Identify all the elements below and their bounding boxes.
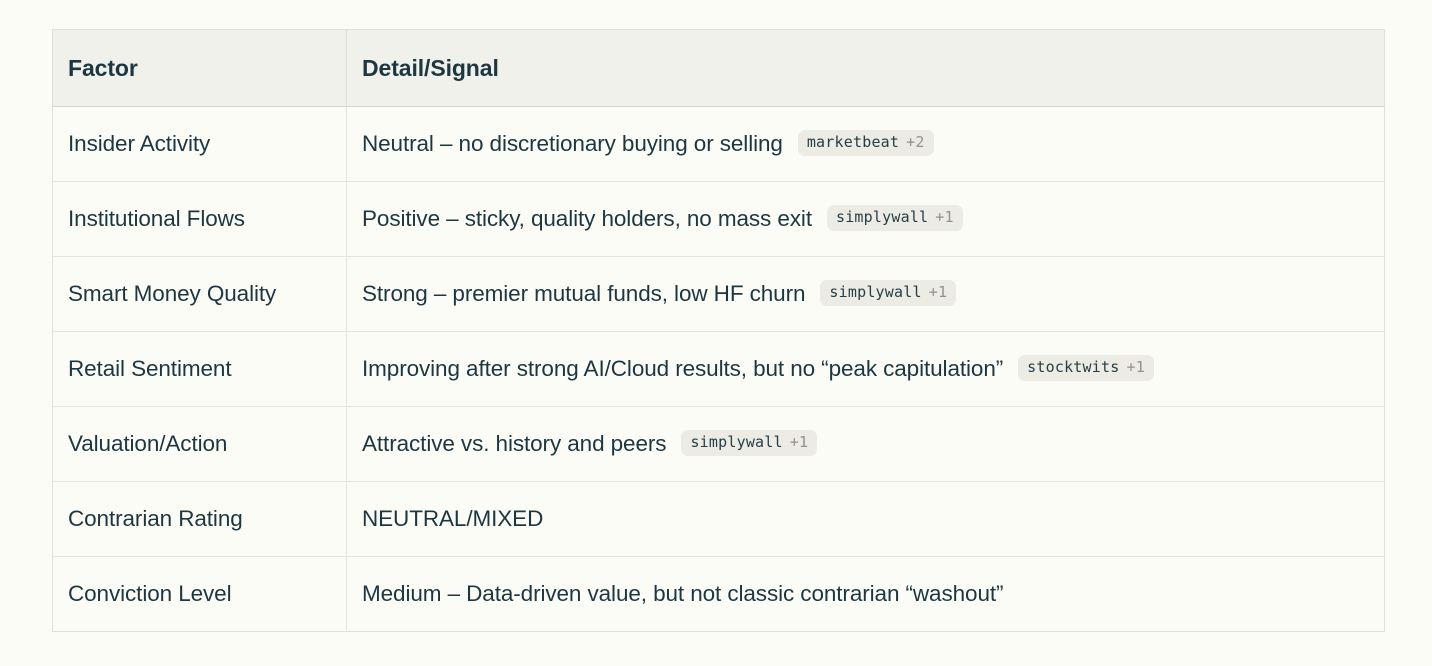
detail-text: Positive – sticky, quality holders, no m… [362,206,812,232]
detail-text: Medium – Data-driven value, but not clas… [362,581,1003,607]
citation-more-count: +1 [1126,359,1144,376]
citation-badge[interactable]: marketbeat +2 [798,130,934,156]
citation-source: simplywall [829,284,921,301]
factor-signal-table-container: Factor Detail/Signal Insider Activity Ne… [52,29,1384,632]
detail-cell-content: Improving after strong AI/Cloud results,… [362,332,1384,406]
detail-cell-content: Neutral – no discretionary buying or sel… [362,107,1384,181]
table-header: Factor Detail/Signal [53,30,1385,107]
citation-badge[interactable]: simplywall +1 [820,280,956,306]
citation-source: simplywall [836,209,928,226]
cell-detail: Attractive vs. history and peers simplyw… [347,407,1385,482]
table-body: Insider Activity Neutral – no discretion… [53,107,1385,632]
factor-signal-table: Factor Detail/Signal Insider Activity Ne… [52,29,1385,632]
citation-badge[interactable]: simplywall +1 [827,205,963,231]
page-root: Factor Detail/Signal Insider Activity Ne… [0,0,1432,666]
cell-detail: NEUTRAL/MIXED [347,482,1385,557]
citation-badge[interactable]: simplywall +1 [681,430,817,456]
detail-text: Improving after strong AI/Cloud results,… [362,356,1003,382]
citation-more-count: +1 [790,434,808,451]
cell-detail: Positive – sticky, quality holders, no m… [347,182,1385,257]
cell-detail: Strong – premier mutual funds, low HF ch… [347,257,1385,332]
detail-cell-content: Strong – premier mutual funds, low HF ch… [362,257,1384,331]
table-row: Contrarian Rating NEUTRAL/MIXED [53,482,1385,557]
citation-more-count: +1 [929,284,947,301]
detail-cell-content: Positive – sticky, quality holders, no m… [362,182,1384,256]
detail-cell-content: Medium – Data-driven value, but not clas… [362,557,1384,631]
detail-text: NEUTRAL/MIXED [362,506,543,532]
citation-more-count: +1 [935,209,953,226]
cell-factor: Smart Money Quality [53,257,347,332]
citation-source: stocktwits [1027,359,1119,376]
cell-factor: Contrarian Rating [53,482,347,557]
table-header-row: Factor Detail/Signal [53,30,1385,107]
table-row: Conviction Level Medium – Data-driven va… [53,557,1385,632]
detail-cell-content: Attractive vs. history and peers simplyw… [362,407,1384,481]
cell-detail: Improving after strong AI/Cloud results,… [347,332,1385,407]
citation-more-count: +2 [906,134,924,151]
detail-text: Attractive vs. history and peers [362,431,666,457]
cell-detail: Medium – Data-driven value, but not clas… [347,557,1385,632]
table-row: Valuation/Action Attractive vs. history … [53,407,1385,482]
table-row: Smart Money Quality Strong – premier mut… [53,257,1385,332]
citation-badge[interactable]: stocktwits +1 [1018,355,1154,381]
cell-detail: Neutral – no discretionary buying or sel… [347,107,1385,182]
detail-cell-content: NEUTRAL/MIXED [362,482,1384,556]
cell-factor: Institutional Flows [53,182,347,257]
detail-text: Neutral – no discretionary buying or sel… [362,131,783,157]
table-row: Retail Sentiment Improving after strong … [53,332,1385,407]
citation-source: marketbeat [807,134,899,151]
citation-source: simplywall [690,434,782,451]
column-header-factor: Factor [53,30,347,107]
table-row: Insider Activity Neutral – no discretion… [53,107,1385,182]
table-row: Institutional Flows Positive – sticky, q… [53,182,1385,257]
cell-factor: Valuation/Action [53,407,347,482]
cell-factor: Insider Activity [53,107,347,182]
cell-factor: Retail Sentiment [53,332,347,407]
cell-factor: Conviction Level [53,557,347,632]
detail-text: Strong – premier mutual funds, low HF ch… [362,281,805,307]
column-header-detail-signal: Detail/Signal [347,30,1385,107]
